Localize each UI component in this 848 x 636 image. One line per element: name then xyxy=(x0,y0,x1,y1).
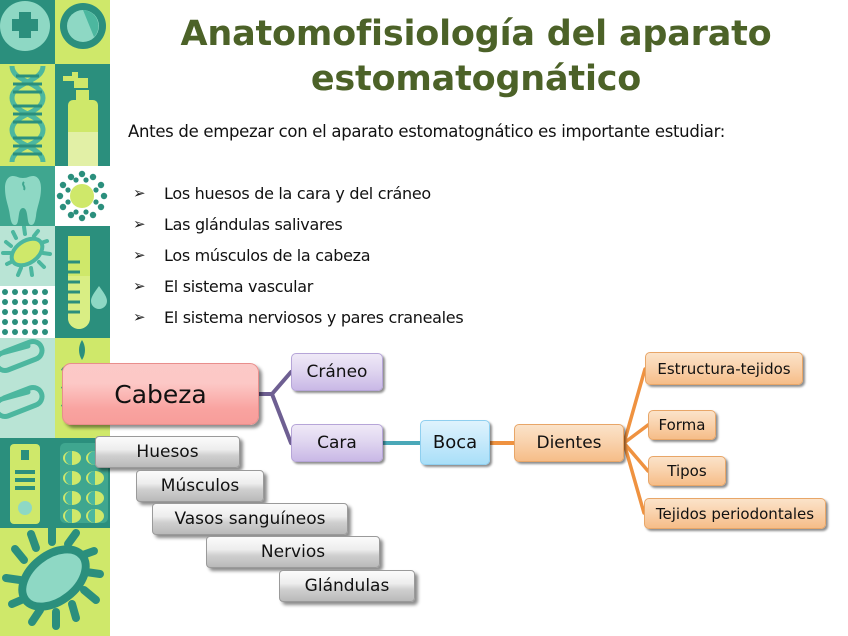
mind-map-diagram: Cabeza Cráneo Cara Boca Dientes Estructu… xyxy=(0,0,848,636)
node-tipos[interactable]: Tipos xyxy=(648,456,726,486)
slide-canvas: Anatomofisiología del aparato estomatogn… xyxy=(0,0,848,636)
node-dientes[interactable]: Dientes xyxy=(514,424,624,462)
connector-lines xyxy=(0,0,848,636)
node-craneo[interactable]: Cráneo xyxy=(291,353,383,391)
node-tejidos-periodontales[interactable]: Tejidos periodontales xyxy=(644,498,826,529)
node-forma[interactable]: Forma xyxy=(648,410,716,440)
node-cabeza[interactable]: Cabeza xyxy=(62,363,259,425)
node-boca[interactable]: Boca xyxy=(420,420,490,465)
node-vasos-sanguineos[interactable]: Vasos sanguíneos xyxy=(152,503,348,535)
node-musculos[interactable]: Músculos xyxy=(136,470,264,502)
node-glandulas[interactable]: Glándulas xyxy=(279,570,415,602)
node-huesos[interactable]: Huesos xyxy=(95,436,240,468)
node-nervios[interactable]: Nervios xyxy=(206,536,380,568)
node-estructura-tejidos[interactable]: Estructura-tejidos xyxy=(645,352,803,385)
node-cara[interactable]: Cara xyxy=(291,424,383,462)
